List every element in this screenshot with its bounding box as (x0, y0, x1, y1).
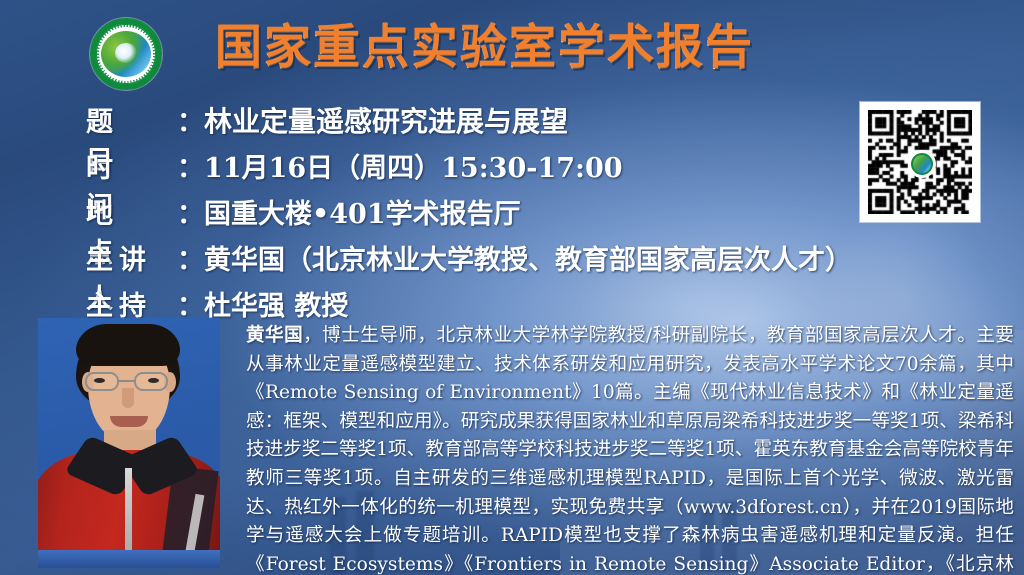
info-value-host: 杜华强 教授 (204, 284, 348, 323)
poster-header: 国家重点实验室学术报告 (0, 0, 1024, 96)
info-value-location: 国重大楼•401学术报告厅 (204, 192, 521, 231)
speaker-photo (38, 318, 220, 568)
info-row-time: 时 间： 11月16日（周四）15:30-17:00 (86, 146, 886, 186)
state-key-lab-emblem-icon (90, 18, 162, 90)
qr-code[interactable] (860, 102, 980, 222)
info-value-topic: 林业定量遥感研究进展与展望 (204, 100, 568, 140)
info-row-topic: 题 目： 林业定量遥感研究进展与展望 (86, 100, 886, 140)
event-info-block: 题 目： 林业定量遥感研究进展与展望 时 间： 11月16日（周四）15:30-… (86, 100, 886, 330)
info-row-location: 地 点： 国重大楼•401学术报告厅 (86, 192, 886, 232)
poster-root: 国家重点实验室学术报告 题 目： 林业定量遥感研究进展与展望 时 间： 11月1… (0, 0, 1024, 575)
bio-text: ，博士生导师，北京林业大学林学院教授/科研副院长，教育部国家高层次人才。主要从事… (246, 325, 1014, 575)
qr-center-emblem-icon (908, 150, 936, 178)
info-value-speaker: 黄华国（北京林业大学教授、教育部国家高层次人才） (204, 238, 852, 277)
page-title: 国家重点实验室学术报告 (215, 14, 915, 82)
speaker-biography: 黄华国，博士生导师，北京林业大学林学院教授/科研副院长，教育部国家高层次人才。主… (246, 322, 1014, 575)
info-row-speaker: 主讲人： 黄华国（北京林业大学教授、教育部国家高层次人才） (86, 238, 886, 278)
info-value-time: 11月16日（周四）15:30-17:00 (204, 146, 623, 185)
bio-speaker-name: 黄华国 (246, 325, 303, 346)
